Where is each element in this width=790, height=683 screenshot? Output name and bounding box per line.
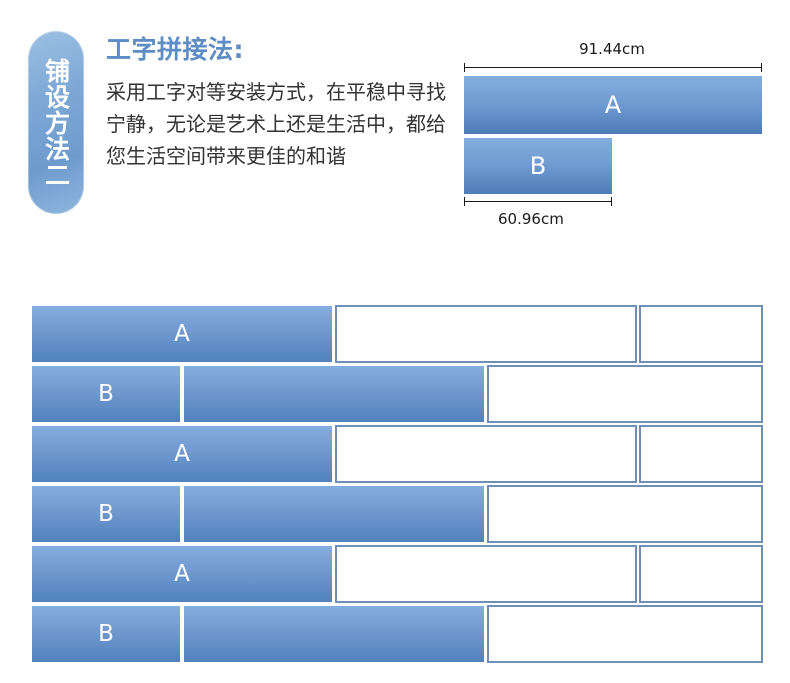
plank-tile-filled: B [31, 365, 181, 423]
plank-tile-empty [487, 365, 763, 423]
tile-row: B [31, 485, 763, 543]
dimension-label-a: 91.44cm [462, 40, 762, 58]
pattern-description: 采用工字对等安装方式，在平稳中寻找宁静，无论是艺术上还是生活中，都给您生活空间带… [106, 76, 456, 173]
plank-tile-filled: B [31, 605, 181, 663]
tiling-layout-diagram: ABABAB [31, 305, 763, 664]
page-title: 工字拼接法: [106, 36, 456, 64]
plank-tile-filled: A [31, 425, 333, 483]
intro-text-block: 工字拼接法: 采用工字对等安装方式，在平稳中寻找宁静，无论是艺术上还是生活中，都… [106, 36, 456, 173]
tile-row: B [31, 605, 763, 663]
dimension-label-b: 60.96cm [498, 210, 564, 228]
dimension-line-b [464, 197, 612, 206]
plank-tile-label: A [174, 441, 190, 467]
plank-tile-empty [639, 425, 763, 483]
plank-tile-filled [183, 605, 485, 663]
plank-tile-empty [639, 305, 763, 363]
plank-tile-empty [487, 485, 763, 543]
sample-tile-b: B [464, 138, 612, 194]
plank-tile-empty [335, 425, 637, 483]
dimension-line-a [464, 63, 762, 72]
dimension-rule-a [464, 67, 762, 68]
plank-tile-empty [487, 605, 763, 663]
tile-row: A [31, 425, 763, 483]
plank-tile-label: B [98, 501, 114, 527]
sample-tile-a: A [464, 76, 762, 134]
method-badge-label: 铺设方法二 [43, 58, 70, 188]
plank-tile-label: B [98, 621, 114, 647]
plank-tile-filled: B [31, 485, 181, 543]
dimension-diagram: 91.44cm A B 60.96cm [462, 40, 767, 235]
tile-row: A [31, 545, 763, 603]
plank-tile-filled [183, 365, 485, 423]
method-header-section: 铺设方法二 工字拼接法: 采用工字对等安装方式，在平稳中寻找宁静，无论是艺术上还… [0, 0, 790, 260]
plank-tile-label: A [174, 561, 190, 587]
plank-tile-label: A [174, 321, 190, 347]
method-badge: 铺设方法二 [28, 31, 84, 214]
sample-tile-a-label: A [605, 91, 621, 119]
sample-tile-b-label: B [530, 152, 546, 180]
dimension-tick-right-b [611, 197, 612, 206]
plank-tile-label: B [98, 381, 114, 407]
plank-tile-empty [335, 305, 637, 363]
plank-tile-filled: A [31, 545, 333, 603]
tile-row: A [31, 305, 763, 363]
dimension-tick-right-a [761, 63, 762, 72]
plank-tile-filled [183, 485, 485, 543]
tile-row: B [31, 365, 763, 423]
plank-tile-empty [639, 545, 763, 603]
plank-tile-filled: A [31, 305, 333, 363]
plank-tile-empty [335, 545, 637, 603]
dimension-rule-b [464, 201, 612, 202]
